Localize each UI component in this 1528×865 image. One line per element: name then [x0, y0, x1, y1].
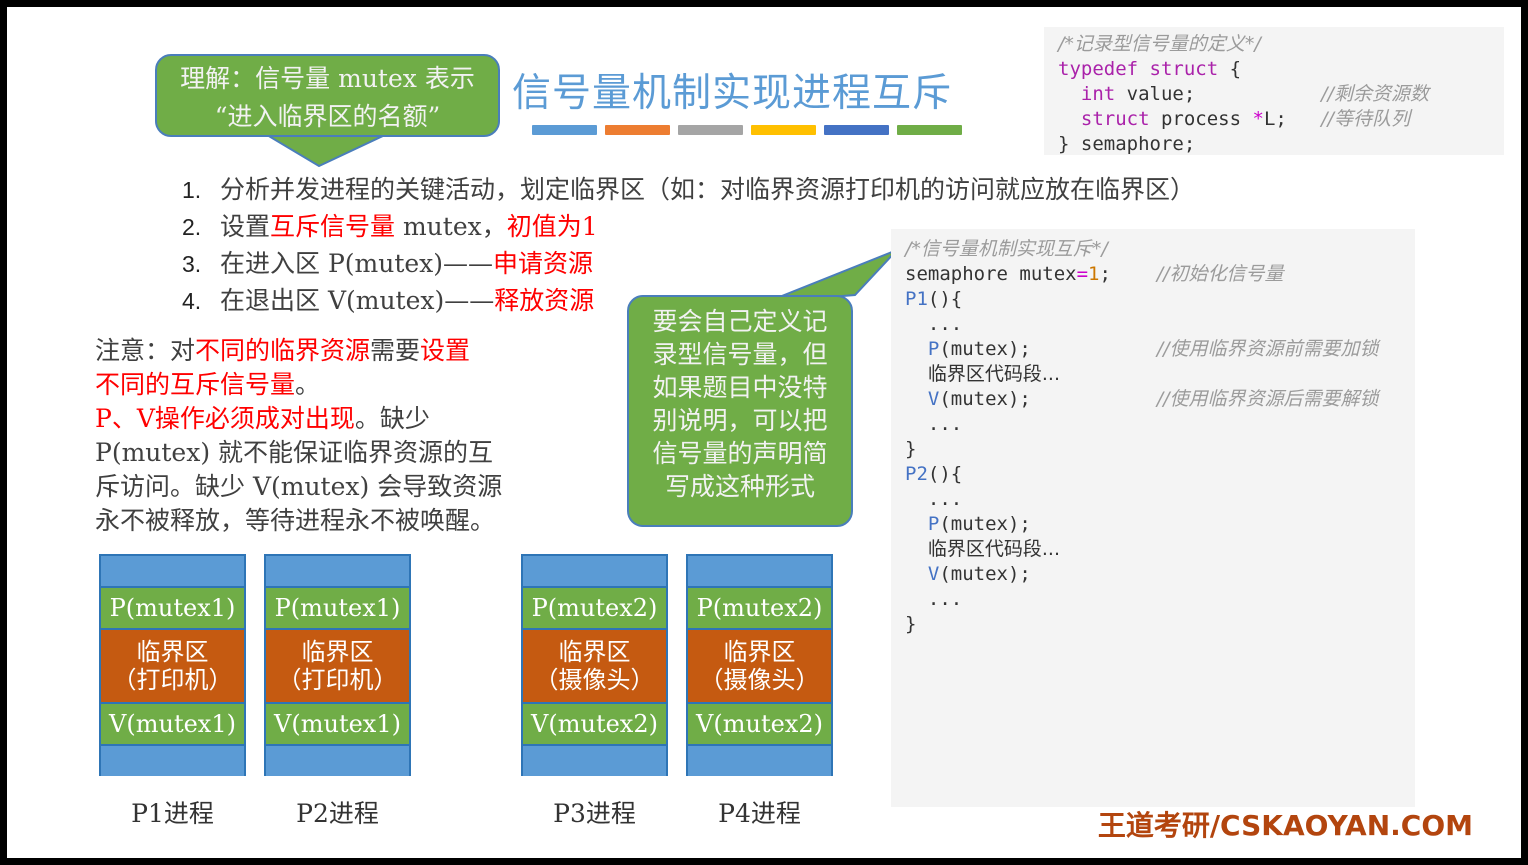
process-segment-p-operation: P(mutex1) — [264, 586, 411, 628]
code-indent — [905, 388, 928, 410]
code-indent — [905, 488, 928, 510]
code-close-brace: } — [905, 612, 1405, 637]
process-segment-critical: 临界区（摄像头） — [521, 628, 668, 702]
step-text-run: 设置 — [220, 212, 270, 241]
code-block-semaphore-definition: /*记录型信号量的定义*/typedef struct { int value;… — [1044, 27, 1504, 155]
code-text: (mutex); — [939, 338, 1031, 360]
note-line: P(mutex) 就不能保证临界资源的互 — [95, 436, 635, 470]
code-indent — [905, 363, 928, 385]
code-function-signature: P2(){ — [905, 462, 1405, 487]
code-text: (mutex); — [939, 388, 1031, 410]
code-operator: = — [1077, 263, 1088, 285]
process-segment-exit — [521, 744, 668, 776]
process-segment-p-operation: P(mutex2) — [521, 586, 668, 628]
title-decoration-bars — [532, 125, 962, 135]
code-text: ; — [1100, 263, 1111, 285]
code-function-call: P — [928, 338, 939, 360]
code-line: 临界区代码段... — [905, 362, 1405, 387]
process-segment-v-operation: V(mutex1) — [99, 702, 246, 744]
code-comment: //使用临界资源后需要解锁 — [1157, 388, 1379, 410]
process-segment-exit — [686, 744, 833, 776]
code-text: ... — [928, 413, 962, 435]
callout-define-line5: 信号量的声明简 — [629, 437, 851, 470]
note-text-run: 永不被释放，等待进程永不被唤醒。 — [95, 506, 495, 535]
notes-paragraph: 注意：对不同的临界资源需要设置不同的互斥信号量。P、V操作必须成对出现。缺少P(… — [95, 334, 635, 538]
code-line: ... — [905, 412, 1405, 437]
code-line: int value; //剩余资源数 — [1058, 82, 1494, 107]
step-text: 设置互斥信号量 mutex，初值为1 — [220, 210, 598, 243]
code-indent — [1058, 83, 1081, 105]
code-close-brace: } — [905, 437, 1405, 462]
critical-label-line1: 临界区 — [724, 638, 796, 666]
process-segment-p-operation: P(mutex1) — [99, 586, 246, 628]
step-number: 4. — [182, 285, 220, 318]
code-text: 临界区代码段... — [928, 363, 1060, 385]
code-text: (mutex); — [939, 563, 1031, 585]
step-text-run: mutex， — [395, 212, 507, 241]
code-comment: //剩余资源数 — [1321, 83, 1429, 105]
callout-define-line6: 写成这种形式 — [629, 470, 851, 503]
critical-label-line1: 临界区 — [137, 638, 209, 666]
code-function-name: P2 — [905, 463, 928, 485]
code-text: } — [905, 438, 916, 460]
process-block: P(mutex1)临界区（打印机）V(mutex1)P2进程 — [264, 554, 411, 830]
code-comment-header: /*信号量机制实现互斥*/ — [905, 237, 1405, 262]
process-segment-v-operation: V(mutex2) — [686, 702, 833, 744]
note-text-run: 斥访问。缺少 V(mutex) 会导致资源 — [95, 472, 502, 501]
note-text-run: 需要 — [370, 336, 420, 365]
code-text: value; — [1115, 83, 1195, 105]
note-line: 斥访问。缺少 V(mutex) 会导致资源 — [95, 470, 635, 504]
code-indent — [905, 538, 928, 560]
step-text-run: 1 — [582, 212, 598, 241]
code-line: struct process *L; //等待队列 — [1058, 107, 1494, 132]
callout-mutex-line2: “进入临界区的名额” — [157, 98, 498, 136]
note-text-run: 设置 — [420, 336, 470, 365]
step-text-run: 释放资源 — [494, 286, 594, 315]
critical-label-line2: （打印机） — [113, 666, 233, 694]
code-space — [1195, 83, 1321, 105]
note-line: P、V操作必须成对出现。缺少 — [95, 402, 635, 436]
code-comment: /*记录型信号量的定义*/ — [1058, 33, 1261, 55]
process-segment-exit — [99, 744, 246, 776]
process-segment-p-operation: P(mutex2) — [686, 586, 833, 628]
critical-label-line2: （打印机） — [278, 666, 398, 694]
process-segment-critical: 临界区（打印机） — [99, 628, 246, 702]
note-text-run: 不同的互斥信号量 — [95, 370, 295, 399]
code-text: ... — [928, 488, 962, 510]
step-number: 2. — [182, 211, 220, 244]
code-text: } — [905, 613, 916, 635]
code-text: 临界区代码段... — [928, 538, 1060, 560]
code-text: (){ — [928, 463, 962, 485]
note-text-run: P(mutex) 就不能保证临界资源的互 — [95, 438, 493, 467]
title-bar-6 — [897, 125, 962, 135]
process-label: P2进程 — [264, 794, 411, 830]
step-text-run: 分析并发进程的关键活动，划定临界区（如：对临界资源打印机的访问就应放在临界区） — [220, 175, 1195, 204]
code-line: V(mutex); — [905, 562, 1405, 587]
code-identifier: mutex — [1008, 263, 1077, 285]
step-text-run: 申请资源 — [493, 249, 593, 278]
title-bar-1 — [532, 125, 597, 135]
process-label: P1进程 — [99, 794, 246, 830]
code-indent — [1058, 108, 1081, 130]
code-space — [1031, 338, 1157, 360]
process-segment-entry — [686, 554, 833, 586]
title-bar-3 — [678, 125, 743, 135]
code-space — [1111, 263, 1157, 285]
code-text: process — [1150, 108, 1253, 130]
code-comment: //使用临界资源前需要加锁 — [1157, 338, 1379, 360]
code-indent — [905, 413, 928, 435]
note-line: 注意：对不同的临界资源需要设置 — [95, 334, 635, 368]
code-indent — [905, 588, 928, 610]
step-text: 在退出区 V(mutex)——释放资源 — [220, 284, 594, 317]
code-function-signature: P1(){ — [905, 287, 1405, 312]
process-block: P(mutex2)临界区（摄像头）V(mutex2)P4进程 — [686, 554, 833, 830]
process-segment-entry — [264, 554, 411, 586]
code-line: 临界区代码段... — [905, 537, 1405, 562]
step-text-run: 在进入区 P(mutex)—— — [220, 249, 493, 278]
callout-define-line1: 要会自己定义记 — [629, 305, 851, 338]
code-text: (){ — [928, 288, 962, 310]
note-text-run: 注意：对 — [95, 336, 195, 365]
step-text-run: 互斥信号量 — [270, 212, 395, 241]
process-segment-critical: 临界区（打印机） — [264, 628, 411, 702]
code-comment-header: /*记录型信号量的定义*/ — [1058, 32, 1494, 57]
callout-mutex-line1: 理解：信号量 mutex 表示 — [157, 60, 498, 98]
code-line: ... — [905, 487, 1405, 512]
code-space — [1031, 388, 1157, 410]
process-segment-entry — [99, 554, 246, 586]
code-indent — [905, 513, 928, 535]
note-text-run: 。 — [295, 370, 320, 399]
critical-label-line2: （摄像头） — [700, 666, 820, 694]
process-label: P4进程 — [686, 794, 833, 830]
process-label: P3进程 — [521, 794, 668, 830]
process-segment-entry — [521, 554, 668, 586]
code-keyword: typedef struct — [1058, 58, 1218, 80]
code-operator: * — [1252, 108, 1263, 130]
code-line: typedef struct { — [1058, 57, 1494, 82]
process-segment-v-operation: V(mutex2) — [521, 702, 668, 744]
code-function-call: P — [928, 513, 939, 535]
code-text: { — [1218, 58, 1241, 80]
code-indent — [905, 338, 928, 360]
slide-canvas: 信号量机制实现进程互斥 理解：信号量 mutex 表示 “进入临界区的名额” 1… — [0, 0, 1528, 865]
page-title: 信号量机制实现进程互斥 — [512, 62, 1032, 118]
note-text-run: 不同的临界资源 — [195, 336, 370, 365]
callout-define-line2: 录型信号量，但 — [629, 338, 851, 371]
code-text: (mutex); — [939, 513, 1031, 535]
code-indent — [905, 313, 928, 335]
code-line: P(mutex); //使用临界资源前需要加锁 — [905, 337, 1405, 362]
callout-mutex-meaning: 理解：信号量 mutex 表示 “进入临界区的名额” — [155, 54, 500, 137]
code-text: } semaphore; — [1058, 133, 1195, 155]
title-bar-4 — [751, 125, 816, 135]
step-number: 1. — [182, 174, 220, 207]
callout-define-line4: 别说明，可以把 — [629, 404, 851, 437]
step-text: 分析并发进程的关键活动，划定临界区（如：对临界资源打印机的访问就应放在临界区） — [220, 173, 1195, 206]
code-comment: /*信号量机制实现互斥*/ — [905, 238, 1108, 260]
process-segment-exit — [264, 744, 411, 776]
callout-define-line3: 如果题目中没特 — [629, 371, 851, 404]
code-block-mutex-implementation: /*信号量机制实现互斥*/semaphore mutex=1; //初始化信号量… — [891, 229, 1415, 807]
code-comment: //初始化信号量 — [1157, 263, 1284, 285]
process-segment-critical: 临界区（摄像头） — [686, 628, 833, 702]
step-item: 1.分析并发进程的关键活动，划定临界区（如：对临界资源打印机的访问就应放在临界区… — [182, 173, 1432, 207]
code-line: } semaphore; — [1058, 132, 1494, 157]
code-comment: //等待队列 — [1321, 108, 1410, 130]
title-bar-5 — [824, 125, 889, 135]
code-line: ... — [905, 587, 1405, 612]
code-declaration: semaphore mutex=1; //初始化信号量 — [905, 262, 1405, 287]
critical-label-line2: （摄像头） — [535, 666, 655, 694]
note-line: 不同的互斥信号量。 — [95, 368, 635, 402]
code-type: semaphore — [905, 263, 1008, 285]
step-number: 3. — [182, 248, 220, 281]
watermark: 王道考研/CSKAOYAN.COM — [1098, 804, 1473, 844]
callout-tail-mutex-icon — [267, 135, 387, 167]
code-indent — [905, 563, 928, 585]
code-keyword: struct — [1081, 108, 1150, 130]
code-text: ... — [928, 313, 962, 335]
critical-label-line1: 临界区 — [302, 638, 374, 666]
note-text-run: 。缺少 — [355, 404, 430, 433]
critical-label-line1: 临界区 — [559, 638, 631, 666]
code-function-call: V — [928, 563, 939, 585]
code-number: 1 — [1088, 263, 1099, 285]
note-line: 永不被释放，等待进程永不被唤醒。 — [95, 504, 635, 538]
step-text-run: 初值为 — [507, 212, 582, 241]
code-text: ... — [928, 588, 962, 610]
process-block: P(mutex2)临界区（摄像头）V(mutex2)P3进程 — [521, 554, 668, 830]
note-text-run: P、V操作必须成对出现 — [95, 404, 355, 433]
code-text: L; — [1264, 108, 1287, 130]
callout-define-hint: 要会自己定义记 录型信号量，但 如果题目中没特 别说明，可以把 信号量的声明简 … — [627, 295, 853, 527]
code-function-call: V — [928, 388, 939, 410]
code-line: ... — [905, 312, 1405, 337]
step-text-run: 在退出区 V(mutex)—— — [220, 286, 494, 315]
process-block: P(mutex1)临界区（打印机）V(mutex1)P1进程 — [99, 554, 246, 830]
process-segment-v-operation: V(mutex1) — [264, 702, 411, 744]
title-bar-2 — [605, 125, 670, 135]
code-line: V(mutex); //使用临界资源后需要解锁 — [905, 387, 1405, 412]
code-line: P(mutex); — [905, 512, 1405, 537]
step-text: 在进入区 P(mutex)——申请资源 — [220, 247, 593, 280]
code-space — [1287, 108, 1321, 130]
code-function-name: P1 — [905, 288, 928, 310]
code-keyword: int — [1081, 83, 1115, 105]
